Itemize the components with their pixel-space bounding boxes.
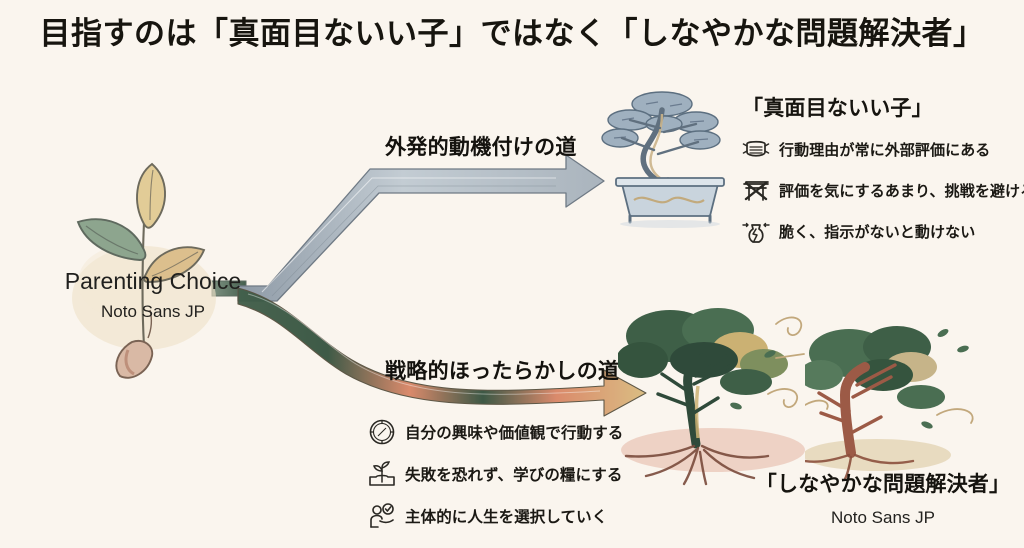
rigid-bullet-2-text: 脆く、指示がないと動けない <box>779 221 975 242</box>
windswept-tree-illustration <box>805 305 1005 480</box>
lower-path-label: 戦略的ほったらかしの道 <box>385 355 619 385</box>
rigid-bullet-0: 行動理由が常に外部評価にある <box>742 135 1024 163</box>
bonsai-tree-illustration <box>600 80 740 228</box>
resilient-bullet-0-text: 自分の興味や価値観で行動する <box>405 421 623 443</box>
person-check-icon <box>368 502 396 530</box>
rigid-outcome-panel: 「真面目ないい子」 行動理由が常に外部評価にある 評価を気にするあまり、挑戦を避… <box>742 92 1024 258</box>
resilient-bullet-0: 自分の興味や価値観で行動する <box>368 418 668 446</box>
resilient-caption-main: 「しなやかな問題解決者」 <box>742 468 1024 498</box>
resilient-caption-sub: Noto Sans JP <box>742 508 1024 528</box>
rigid-outcome-heading: 「真面目ないい子」 <box>742 92 1024 122</box>
resilient-caption: 「しなやかな問題解決者」 Noto Sans JP <box>742 468 1024 528</box>
crossed-out-gate-icon <box>742 176 770 204</box>
rigid-bullet-1: 評価を気にするあまり、挑戦を避ける <box>742 176 1024 204</box>
resilient-bullet-1: 失敗を恐れず、学びの糧にする <box>368 460 668 488</box>
rigid-bullet-0-text: 行動理由が常に外部評価にある <box>779 139 990 160</box>
extrinsic-motivation-arrow <box>238 155 604 301</box>
upper-path-label: 外発的動機付けの道 <box>385 131 577 161</box>
origin-label: Parenting Choice <box>28 268 278 295</box>
compass-icon <box>368 418 396 446</box>
resilient-bullet-2-text: 主体的に人生を選択していく <box>405 505 607 527</box>
cracked-vase-icon <box>742 217 770 245</box>
resilient-outcome-panel: 自分の興味や価値観で行動する 失敗を恐れず、学びの糧にする 主体的に人生を選択し… <box>368 418 668 544</box>
seedling-in-soil-icon <box>368 460 396 488</box>
rigid-bullet-1-text: 評価を気にするあまり、挑戦を避ける <box>779 180 1024 201</box>
face-mask-icon <box>742 135 770 163</box>
resilient-bullet-2: 主体的に人生を選択していく <box>368 502 668 530</box>
rigid-bullet-2: 脆く、指示がないと動けない <box>742 217 1024 245</box>
origin-sublabel: Noto Sans JP <box>28 302 278 322</box>
strategic-hands-off-arrow <box>238 288 646 416</box>
infographic-canvas: 目指すのは「真面目ないい子」ではなく「しなやかな問題解決者」 <box>0 0 1024 548</box>
origin-cluster: Parenting Choice Noto Sans JP <box>28 150 278 380</box>
page-title: 目指すのは「真面目ないい子」ではなく「しなやかな問題解決者」 <box>0 8 1024 53</box>
sprout-icon <box>28 150 278 380</box>
resilient-bullet-1-text: 失敗を恐れず、学びの糧にする <box>405 463 622 485</box>
